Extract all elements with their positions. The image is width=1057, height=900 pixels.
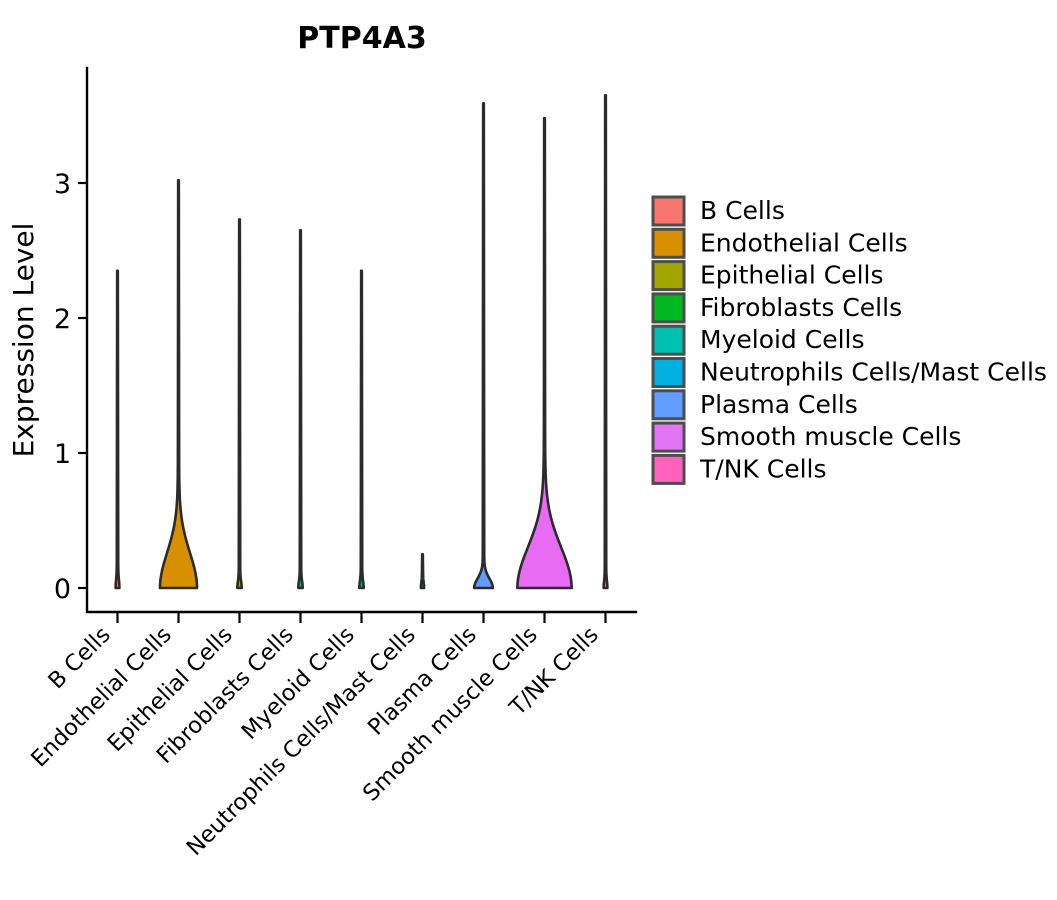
plot-canvas: PTP4A3 0123 B CellsEndothelial CellsEpit… [0, 0, 1057, 900]
legend-swatch-myeloid-cells[interactable] [653, 326, 684, 354]
violin-plot-figure: PTP4A3 0123 B CellsEndothelial CellsEpit… [0, 0, 1057, 900]
violin-endothelial-cells [160, 180, 197, 588]
y-tick-label: 1 [54, 439, 71, 470]
legend-swatch-plasma-cells[interactable] [653, 391, 684, 419]
legend-label[interactable]: Endothelial Cells [700, 228, 908, 257]
plot-title-group: PTP4A3 [297, 21, 426, 56]
legend-label[interactable]: Smooth muscle Cells [700, 422, 961, 451]
legend-label[interactable]: Neutrophils Cells/Mast Cells [700, 358, 1047, 387]
legend-label[interactable]: T/NK Cells [699, 454, 827, 483]
legend-swatch-endothelial-cells[interactable] [653, 229, 684, 257]
violin-neutrophils-cells-mast-cells [421, 554, 424, 588]
legend-label[interactable]: Myeloid Cells [700, 325, 865, 354]
y-tick-group: 0123 [54, 169, 87, 605]
legend-label[interactable]: Epithelial Cells [700, 261, 884, 290]
x-tick-group: B CellsEndothelial CellsEpithelial Cells… [26, 612, 605, 861]
legend-group: B CellsEndothelial CellsEpithelial Cells… [653, 196, 1047, 483]
violin-myeloid-cells [359, 271, 363, 588]
legend-label[interactable]: Fibroblasts Cells [700, 293, 902, 322]
violin-fibroblasts-cells [298, 230, 302, 588]
y-tick-label: 2 [54, 304, 71, 335]
violin-b-cells [116, 271, 120, 588]
legend-swatch-b-cells[interactable] [653, 197, 684, 225]
violins-group [116, 95, 608, 588]
legend-swatch-smooth-muscle-cells[interactable] [653, 423, 684, 451]
legend-swatch-neutrophils-cells-mast-cells[interactable] [653, 359, 684, 387]
violin-t-nk-cells [604, 95, 608, 588]
legend-swatch-t-nk-cells[interactable] [653, 455, 684, 483]
legend-label[interactable]: B Cells [700, 196, 785, 225]
plot-title: PTP4A3 [297, 21, 426, 56]
y-axis-title: Expression Level [7, 223, 40, 458]
violin-smooth-muscle-cells [517, 118, 571, 588]
violin-plasma-cells [474, 103, 493, 588]
y-tick-label: 0 [54, 574, 71, 605]
legend-swatch-fibroblasts-cells[interactable] [653, 294, 684, 322]
legend-swatch-epithelial-cells[interactable] [653, 262, 684, 290]
y-axis-title-group: Expression Level [7, 223, 40, 458]
violin-epithelial-cells [237, 219, 241, 588]
legend-label[interactable]: Plasma Cells [700, 390, 858, 419]
y-tick-label: 3 [54, 169, 71, 200]
